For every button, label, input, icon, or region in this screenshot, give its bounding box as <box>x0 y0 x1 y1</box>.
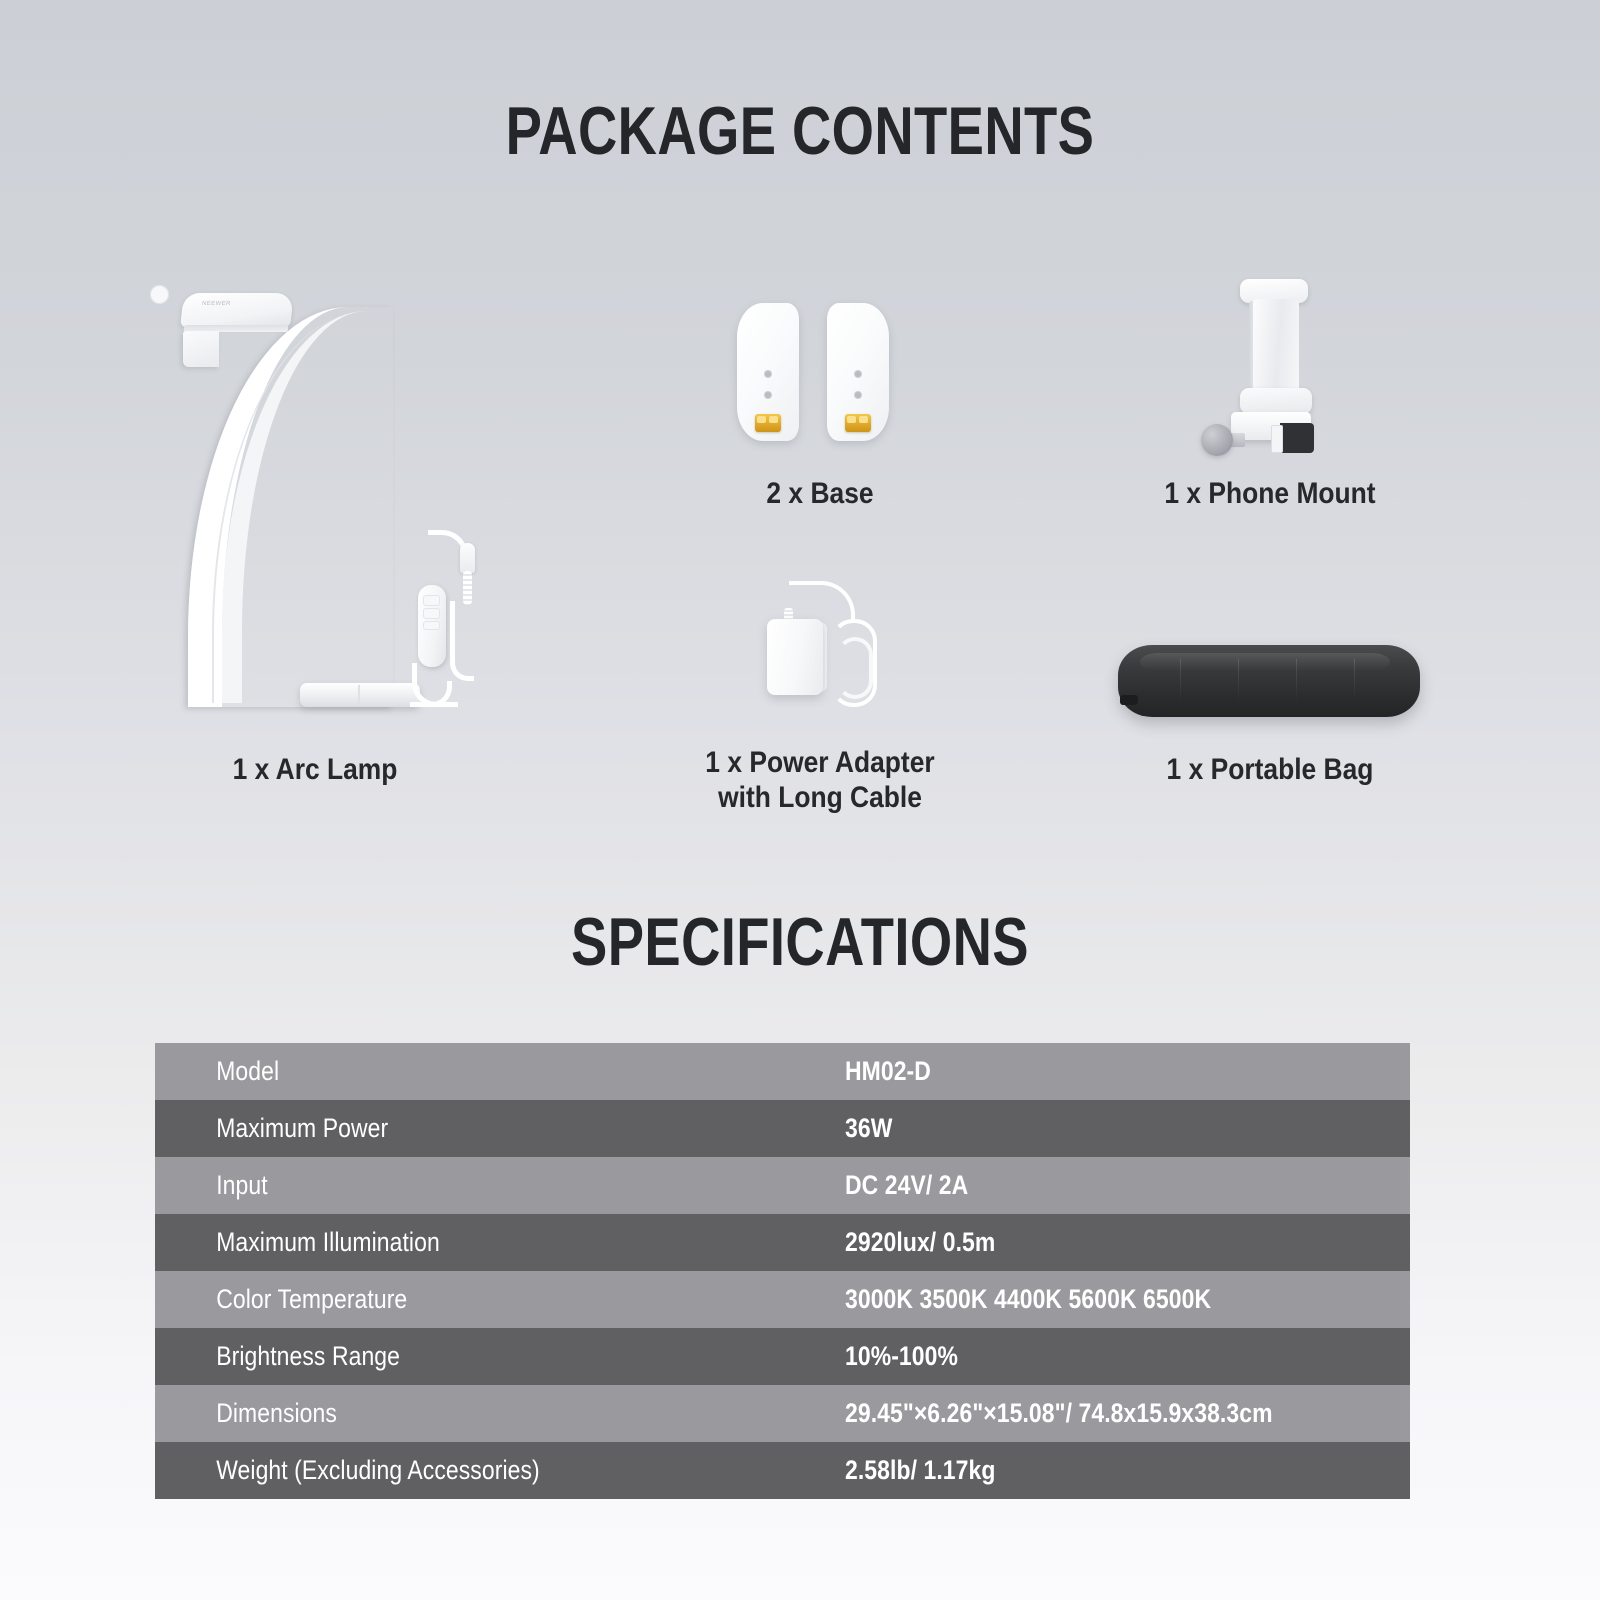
phone-mount-bottom-jaw <box>1240 388 1312 414</box>
portable-bag-image <box>1110 635 1430 730</box>
spec-label: Maximum Power <box>155 1113 742 1144</box>
table-row: Model HM02-D <box>155 1043 1410 1100</box>
caption-portable-bag-line1: 1 x Portable Bag <box>1112 752 1429 787</box>
table-row: Brightness Range 10%-100% <box>155 1328 1410 1385</box>
spec-label: Color Temperature <box>155 1284 742 1315</box>
adapter-brick <box>767 619 823 695</box>
lamp-arc-seam <box>212 313 392 703</box>
adapter-cable-arc <box>789 581 855 623</box>
base-right-screw-2 <box>855 392 861 398</box>
table-row: Color Temperature 3000K 3500K 4400K 5600… <box>155 1271 1410 1328</box>
phone-mount-clamp-arm <box>1280 423 1314 453</box>
controller-power-button <box>150 285 169 304</box>
controller-button-2 <box>423 608 440 619</box>
phone-mount-tighten-knob <box>1201 424 1233 456</box>
bag-wrinkle-4 <box>1354 659 1355 703</box>
bag-wrinkle-3 <box>1296 659 1297 703</box>
caption-arc-lamp-line1: 1 x Arc Lamp <box>143 752 486 787</box>
caption-base: 2 x Base <box>679 476 961 511</box>
caption-power-adapter-line1: 1 x Power Adapter <box>662 745 979 780</box>
caption-arc-lamp: 1 x Arc Lamp <box>143 752 486 787</box>
spec-value: 29.45"×6.26"×15.08"/ 74.8x15.9x38.3cm <box>845 1398 1325 1429</box>
adapter-cable-coil-inner <box>837 637 873 699</box>
caption-base-line1: 2 x Base <box>679 476 961 511</box>
spec-value: HM02-D <box>845 1056 1325 1087</box>
spec-value: 36W <box>845 1113 1325 1144</box>
power-adapter-image <box>745 575 905 725</box>
bag-wrinkle-2 <box>1238 659 1239 703</box>
spec-label: Model <box>155 1056 742 1087</box>
base-left-screw-2 <box>765 392 771 398</box>
spec-value: 3000K 3500K 4400K 5600K 6500K <box>845 1284 1325 1315</box>
base-plates-image <box>725 295 915 455</box>
table-row: Maximum Illumination 2920lux/ 0.5m <box>155 1214 1410 1271</box>
phone-mount-column <box>1253 299 1299 395</box>
phone-mount-image <box>1185 275 1360 455</box>
table-row: Input DC 24V/ 2A <box>155 1157 1410 1214</box>
base-right-screw-1 <box>855 371 861 377</box>
base-left-gold-clip <box>755 414 781 432</box>
spec-label: Input <box>155 1170 742 1201</box>
caption-phone-mount: 1 x Phone Mount <box>1112 476 1429 511</box>
bag-wrinkle-1 <box>1180 659 1181 703</box>
spec-value: 10%-100% <box>845 1341 1325 1372</box>
spec-value: DC 24V/ 2A <box>845 1170 1325 1201</box>
lamp-foot <box>300 683 420 707</box>
lamp-foot-seam <box>358 685 360 705</box>
phone-mount-clamp-slot <box>1271 425 1283 453</box>
dc-barrel-connector <box>460 543 475 573</box>
spec-label: Maximum Illumination <box>155 1227 742 1258</box>
lamp-brand-label: NEEWER <box>202 301 231 307</box>
table-row: Weight (Excluding Accessories) 2.58lb/ 1… <box>155 1442 1410 1499</box>
controller-button-1 <box>423 595 440 606</box>
package-contents-heading: PACKAGE CONTENTS <box>160 92 1440 170</box>
caption-power-adapter: 1 x Power Adapter with Long Cable <box>662 745 979 816</box>
dc-strain-relief <box>463 571 472 605</box>
specifications-table: Model HM02-D Maximum Power 36W Input DC … <box>155 1043 1410 1499</box>
lamp-head <box>180 293 294 327</box>
caption-portable-bag: 1 x Portable Bag <box>1112 752 1429 787</box>
base-right-gold-clip <box>845 414 871 432</box>
spec-label: Brightness Range <box>155 1341 742 1372</box>
caption-phone-mount-line1: 1 x Phone Mount <box>1112 476 1429 511</box>
specifications-heading: SPECIFICATIONS <box>160 903 1440 981</box>
table-row: Dimensions 29.45"×6.26"×15.08"/ 74.8x15.… <box>155 1385 1410 1442</box>
arc-lamp-image: NEEWER <box>150 285 480 730</box>
table-row: Maximum Power 36W <box>155 1100 1410 1157</box>
spec-value: 2.58lb/ 1.17kg <box>845 1455 1325 1486</box>
bag-top-fold <box>1140 653 1390 671</box>
spec-label: Weight (Excluding Accessories) <box>155 1455 742 1486</box>
spec-label: Dimensions <box>155 1398 742 1429</box>
spec-value: 2920lux/ 0.5m <box>845 1227 1325 1258</box>
controller-button-3 <box>423 621 440 630</box>
caption-power-adapter-line2: with Long Cable <box>662 780 979 815</box>
dc-cable-tail <box>450 601 474 681</box>
bag-zipper-pull <box>1120 695 1138 705</box>
lamp-head-lip <box>183 331 219 367</box>
base-left-screw-1 <box>765 371 771 377</box>
